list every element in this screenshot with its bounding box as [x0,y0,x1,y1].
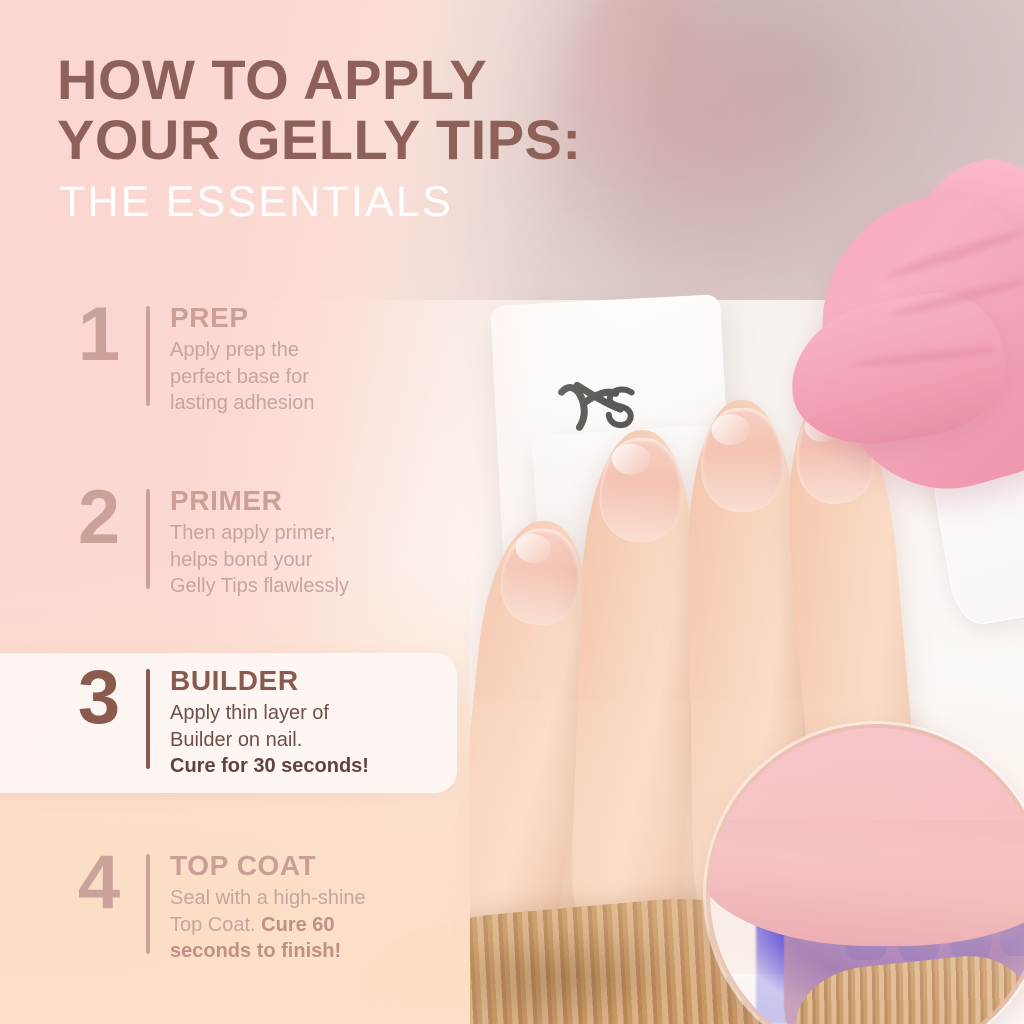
step-body: PREP Apply prep the perfect base for las… [170,300,315,417]
step-description: Seal with a high-shine Top Coat. Cure 60… [170,885,366,965]
step-description: Then apply primer, helps bond your Gelly… [170,520,349,600]
page-subtitle: THE ESSENTIALS [59,178,453,227]
step-body: BUILDER Apply thin layer of Builder on n… [170,663,369,780]
step-title: PRIMER [170,485,349,517]
step-desc-line: Seal with a high-shine [170,887,366,909]
step-item-prep[interactable]: 1 PREP Apply prep the perfect base for l… [60,300,315,417]
step-desc-line: Apply thin layer of [170,702,329,724]
step-number: 3 [60,663,138,733]
step-body: TOP COAT Seal with a high-shine Top Coat… [170,848,366,965]
step-desc-line: Then apply primer, [170,522,336,544]
content-layer: HOW TO APPLY YOUR GELLY TIPS: THE ESSENT… [0,0,1024,1024]
step-desc-emphasis: Cure 60 [261,914,334,936]
step-divider [146,489,150,589]
step-body: PRIMER Then apply primer, helps bond you… [170,483,349,600]
step-item-top-coat[interactable]: 4 TOP COAT Seal with a high-shine Top Co… [60,848,366,965]
step-desc-line: Apply prep the [170,339,299,361]
step-desc-line: perfect base for [170,366,309,388]
step-description: Apply thin layer of Builder on nail. Cur… [170,700,369,780]
step-desc-line: Builder on nail. [170,729,302,751]
step-desc-line: lasting adhesion [170,392,315,414]
step-description: Apply prep the perfect base for lasting … [170,337,315,417]
step-title: BUILDER [170,665,369,697]
step-desc-emphasis-tail: seconds to finish! [170,940,341,962]
step-divider [146,854,150,954]
step-item-builder[interactable]: 3 BUILDER Apply thin layer of Builder on… [60,663,369,780]
step-number: 4 [60,848,138,918]
poster-canvas: HOW TO APPLY YOUR GELLY TIPS: THE ESSENT… [0,0,1024,1024]
step-divider [146,669,150,769]
step-item-primer[interactable]: 2 PRIMER Then apply primer, helps bond y… [60,483,349,600]
step-title: TOP COAT [170,850,366,882]
headline-line-1: HOW TO APPLY [57,48,487,111]
step-title: PREP [170,302,315,334]
page-title: HOW TO APPLY YOUR GELLY TIPS: [57,50,677,171]
step-number: 1 [60,300,138,370]
step-desc-emphasis: Cure for 30 seconds! [170,755,369,777]
headline-line-2: YOUR GELLY TIPS: [57,110,677,170]
step-desc-line: Gelly Tips flawlessly [170,575,349,597]
step-number: 2 [60,483,138,553]
step-desc-line: Top Coat. [170,914,261,936]
step-divider [146,306,150,406]
step-desc-line: helps bond your [170,549,312,571]
